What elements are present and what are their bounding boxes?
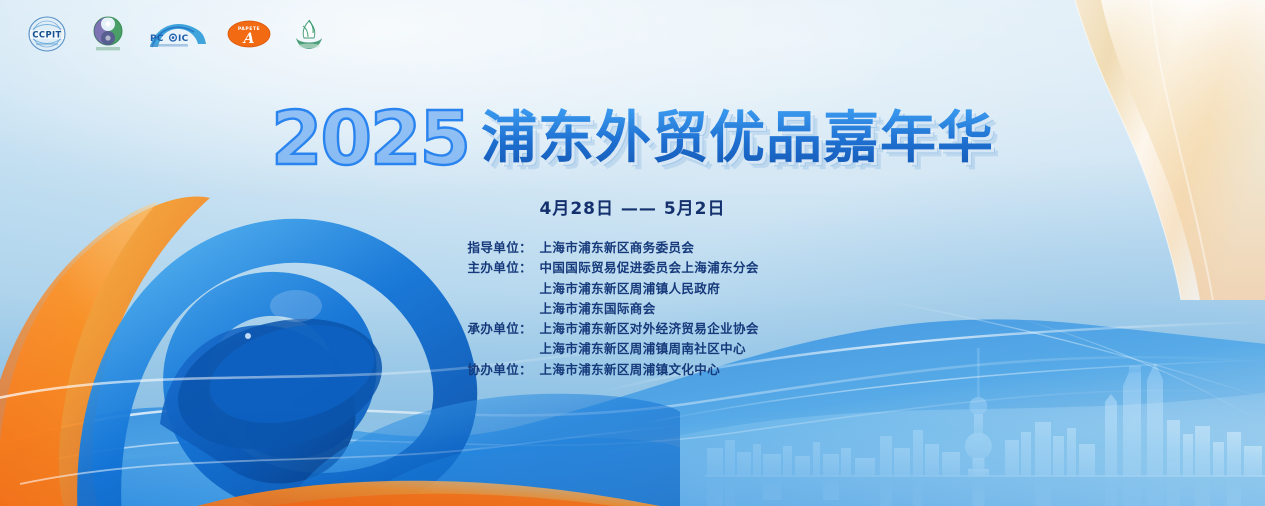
credit-value: 上海市浦东新区周浦镇文化中心 bbox=[540, 360, 798, 380]
year-text: 2025 bbox=[271, 102, 473, 176]
culture-center-logo bbox=[290, 14, 328, 54]
svg-text:A: A bbox=[242, 31, 255, 47]
pcoic-logo: PC IC bbox=[146, 14, 208, 54]
credit-label: 指导单位： bbox=[468, 238, 540, 258]
credit-line: 指导单位：上海市浦东国际商会 bbox=[468, 299, 798, 319]
credit-value: 上海市浦东新区周浦镇周南社区中心 bbox=[540, 339, 798, 359]
credit-label: 协办单位： bbox=[468, 360, 540, 380]
event-title-text: 浦东外贸优品嘉年华 bbox=[481, 106, 994, 171]
title-row: 2025 浦东外贸优品嘉年华 bbox=[0, 100, 1265, 178]
zhoupu-logo bbox=[88, 14, 128, 54]
event-poster: CCPIT PC IC bbox=[0, 0, 1265, 506]
credit-line: 指导单位：上海市浦东新区商务委员会 bbox=[468, 238, 798, 258]
credit-value: 上海市浦东国际商会 bbox=[540, 299, 798, 319]
credit-line: 协办单位：上海市浦东新区周浦镇文化中心 bbox=[468, 360, 798, 380]
svg-text:CCPIT: CCPIT bbox=[32, 30, 61, 40]
headline-block: 2025 浦东外贸优品嘉年华 4月28日 —— 5月2日 bbox=[0, 100, 1265, 219]
credit-value: 中国国际贸易促进委员会上海浦东分会 bbox=[540, 258, 798, 278]
credit-value: 上海市浦东新区周浦镇人民政府 bbox=[540, 279, 798, 299]
ccpit-logo: CCPIT bbox=[24, 14, 70, 54]
organizer-credits-list: 指导单位：上海市浦东新区商务委员会主办单位：中国国际贸易促进委员会上海浦东分会指… bbox=[468, 238, 798, 380]
credit-label: 主办单位： bbox=[468, 258, 540, 278]
credit-value: 上海市浦东新区对外经济贸易企业协会 bbox=[540, 319, 798, 339]
event-title: 浦东外贸优品嘉年华 bbox=[481, 111, 994, 167]
svg-text:PC: PC bbox=[150, 34, 164, 44]
credit-line: 主办单位：中国国际贸易促进委员会上海浦东分会 bbox=[468, 258, 798, 278]
credit-label: 承办单位： bbox=[468, 319, 540, 339]
credit-line: 承办单位：上海市浦东新区对外经济贸易企业协会 bbox=[468, 319, 798, 339]
event-date: 4月28日 —— 5月2日 bbox=[0, 194, 1265, 219]
sponsor-logo-strip: CCPIT PC IC bbox=[24, 14, 328, 54]
credit-line: 指导单位：上海市浦东新区周浦镇周南社区中心 bbox=[468, 339, 798, 359]
credit-line: 指导单位：上海市浦东新区周浦镇人民政府 bbox=[468, 279, 798, 299]
organizer-credits: 指导单位：上海市浦东新区商务委员会主办单位：中国国际贸易促进委员会上海浦东分会指… bbox=[0, 238, 1265, 380]
credit-value: 上海市浦东新区商务委员会 bbox=[540, 238, 798, 258]
shanghai-a-logo: PAPETE A bbox=[226, 14, 272, 54]
svg-text:IC: IC bbox=[178, 34, 189, 44]
